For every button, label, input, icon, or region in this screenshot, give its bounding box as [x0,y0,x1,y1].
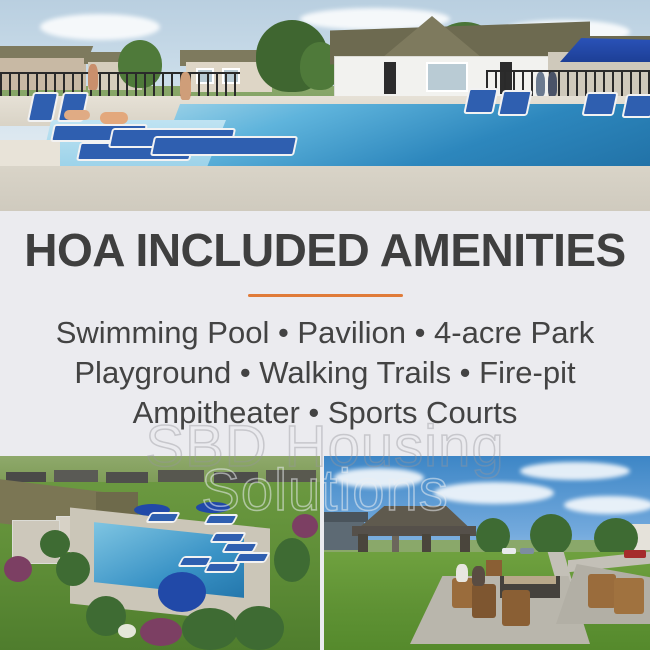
neighbor-roof [214,472,258,483]
flowering-shrub [140,618,182,646]
photo-aerial-pool-complex [0,456,320,650]
adirondack-chair [502,590,530,626]
patio-umbrella [158,572,206,612]
title-divider [248,294,403,297]
neighbor-roof [106,472,148,483]
photo-community-pool-deck [0,0,650,211]
amenities-line-1: Swimming Pool • Pavilion • 4-acre Park [0,313,650,353]
person [548,72,557,96]
white-flower-bush [118,624,136,638]
lounge-chair [203,514,239,525]
adirondack-chair [452,578,474,608]
lounge-chair [581,92,618,116]
cloud [520,462,630,480]
amenities-line-2: Playground • Walking Trails • Fire-pit [0,353,650,393]
neighbor-roof [158,470,204,482]
person-sunbathing [100,112,128,124]
flowering-shrub [4,556,32,582]
photo-pavilion-firepit [324,456,650,650]
tree [274,538,310,582]
amenities-graphic: HOA INCLUDED AMENITIES Swimming Pool • P… [0,0,650,650]
lounge-chair [150,136,298,156]
cloud [40,14,160,40]
adirondack-chair [472,584,496,618]
lounge-chair [145,512,181,523]
tree [56,552,90,586]
car [502,548,516,554]
person-sunbathing [64,110,90,120]
amenities-line-3: Ampitheater • Sports Courts [0,393,650,433]
lounge-chair [497,90,533,116]
lounge-chair [621,94,650,118]
person [88,64,98,90]
page-title: HOA INCLUDED AMENITIES [0,224,650,276]
flowering-shrub [292,514,318,538]
lounge-chair [177,556,213,567]
person-seated [456,564,468,582]
clubhouse-window [426,62,468,92]
neighbor-roof [324,512,368,522]
person-seated [472,566,485,586]
person [180,72,191,100]
cloud [564,496,650,514]
car [520,548,534,554]
pavilion-fascia [352,526,476,536]
patio-umbrella [196,502,230,513]
neighbor-roof [54,470,98,482]
clubhouse-door [384,62,396,94]
adirondack-chair [486,560,502,576]
person [536,72,545,96]
tree [182,608,238,650]
tree [234,606,284,650]
concrete-deck [0,166,650,211]
adirondack-chair [588,574,616,608]
adirondack-chair [614,578,644,614]
tree [530,514,572,556]
car [624,550,646,558]
cloud [434,482,554,504]
neighbor-roof [266,470,316,482]
fire-pit-top [504,576,556,584]
cloud [334,468,424,488]
lounge-chair [463,88,499,114]
